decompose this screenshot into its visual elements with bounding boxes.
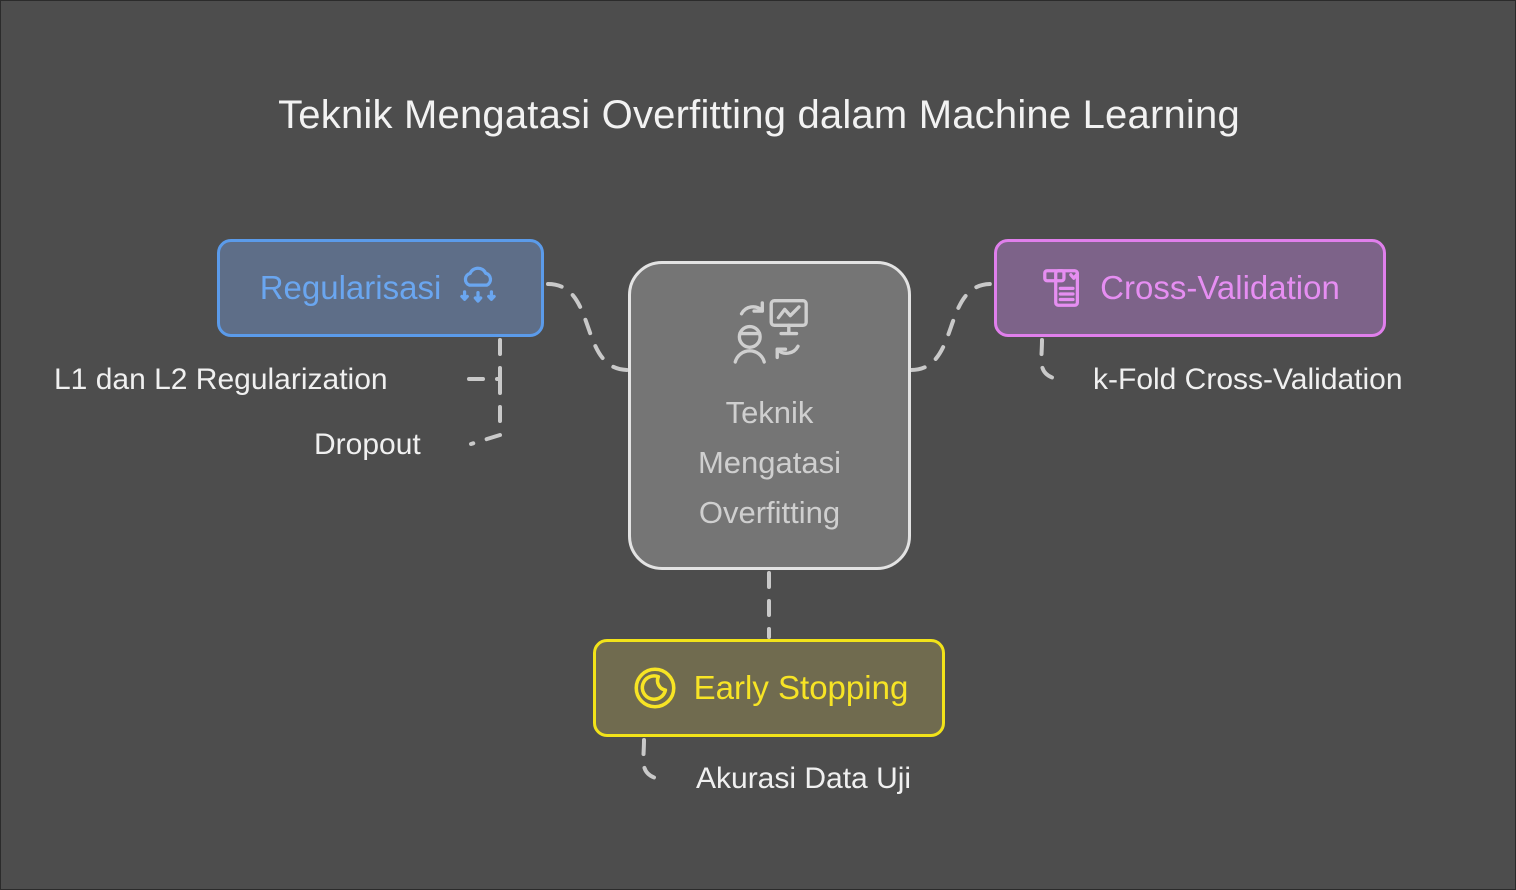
node-cross-validation[interactable]: Cross-Validation: [994, 239, 1386, 337]
node-cross-validation-label: Cross-Validation: [1100, 269, 1340, 307]
leaf-label-l1-l2-regularization: L1 dan L2 Regularization: [54, 363, 388, 397]
leaf-label-k-fold-cross-validation: k-Fold Cross-Validation: [1093, 363, 1403, 397]
center-topic-line-2: Mengatasi: [698, 441, 841, 485]
node-early-stopping[interactable]: Early Stopping: [593, 639, 945, 737]
edge-regularisasi-l1l2: [467, 340, 500, 379]
edge-crossvalidation-kfold: [1041, 340, 1062, 380]
node-center-topic[interactable]: Teknik Mengatasi Overfitting: [628, 261, 911, 570]
center-topic-line-1: Teknik: [726, 391, 814, 435]
leaf-label-akurasi-data-uji: Akurasi Data Uji: [696, 762, 911, 796]
center-topic-line-3: Overfitting: [699, 491, 840, 535]
edge-earlystopping-akurasi: [643, 740, 664, 780]
node-early-stopping-label: Early Stopping: [694, 669, 909, 707]
edge-regularisasi-dropout: [471, 379, 500, 444]
crescent-moon-circle-icon: [630, 663, 680, 713]
page-title: Teknik Mengatasi Overfitting dalam Machi…: [1, 93, 1516, 138]
edge-regularisasi-center: [548, 284, 628, 370]
form-document-dropdown-icon: [1040, 265, 1086, 311]
node-regularisasi[interactable]: Regularisasi: [217, 239, 544, 337]
edge-center-crossvalidation: [911, 284, 991, 370]
cloud-rain-down-arrows-icon: [455, 265, 501, 311]
person-monitor-chart-refresh-icon: [729, 297, 811, 371]
node-regularisasi-label: Regularisasi: [260, 269, 442, 307]
mindmap-canvas: Teknik Mengatasi Overfitting dalam Machi…: [0, 0, 1516, 890]
leaf-label-dropout: Dropout: [314, 428, 421, 462]
